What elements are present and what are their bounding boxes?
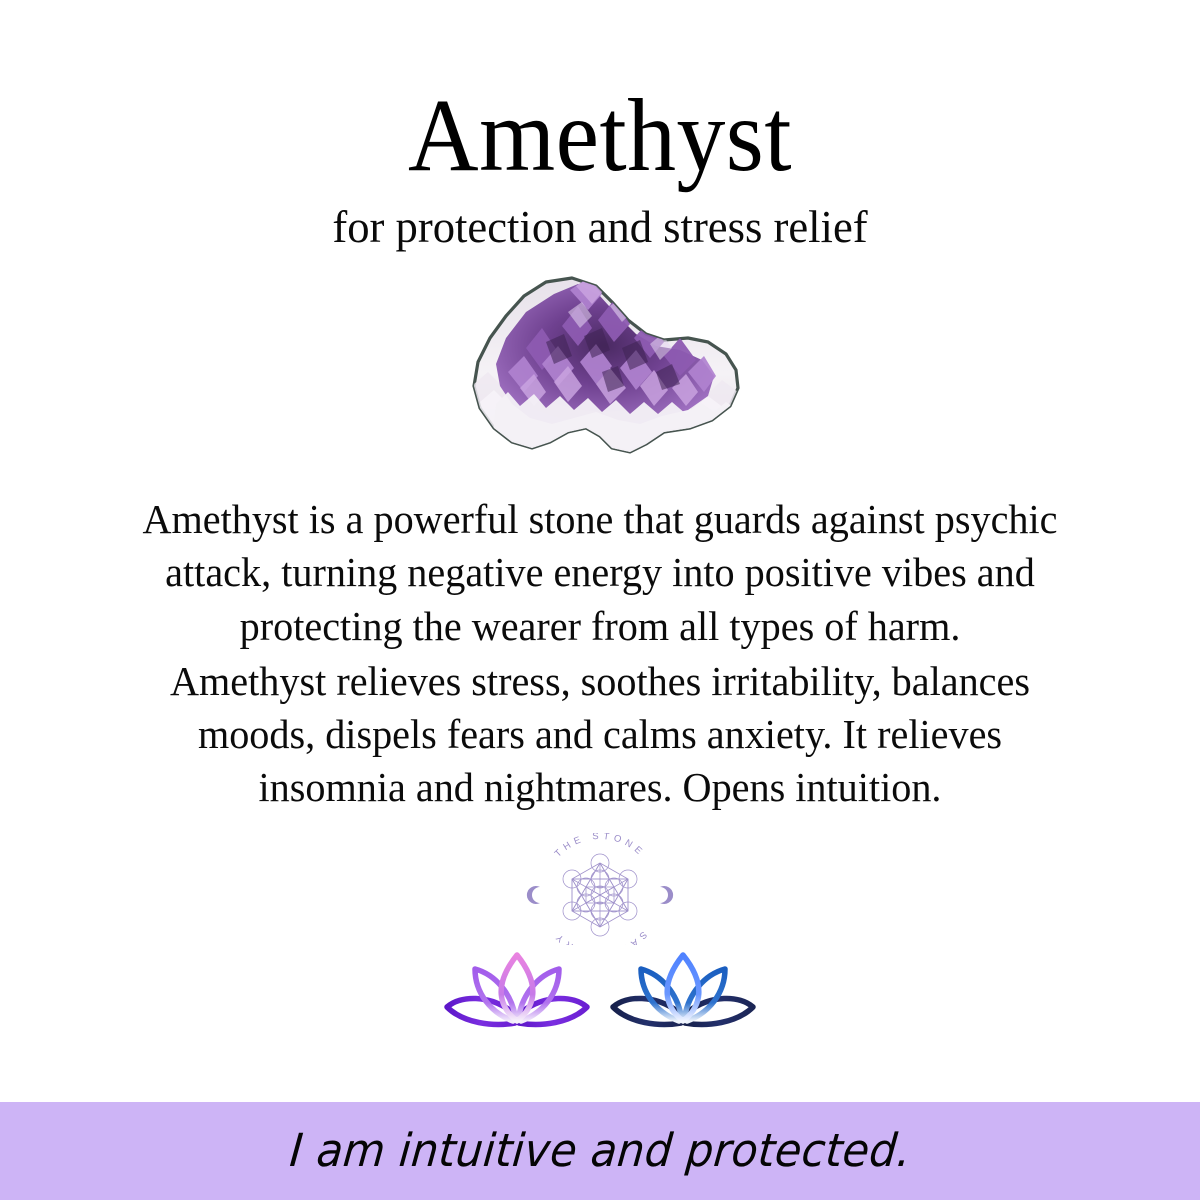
blue-lotus-icon	[603, 941, 763, 1037]
description-paragraph-1: Amethyst is a powerful stone that guards…	[130, 493, 1071, 653]
affirmation-banner: I am intuitive and protected.	[0, 1102, 1200, 1200]
amethyst-crystal-image	[450, 276, 750, 471]
description-paragraph-2: Amethyst relieves stress, soothes irrita…	[130, 655, 1071, 815]
logo-top-arc-text: THE STONE	[553, 833, 648, 860]
purple-lotus-icon	[437, 941, 597, 1037]
brand-logo: THE STONE SANCTUARY	[520, 833, 680, 945]
affirmation-text: I am intuitive and protected.	[287, 1125, 912, 1178]
description-block: Amethyst is a powerful stone that guards…	[130, 493, 1071, 815]
amethyst-info-card: Amethyst for protection and stress relie…	[0, 0, 1200, 1200]
metatrons-cube-icon	[563, 854, 637, 936]
logo-bottom-arc-text: SANCTUARY	[551, 929, 649, 945]
page-subtitle: for protection and stress relief	[18, 204, 1182, 250]
lotus-pair	[435, 941, 765, 1037]
header: Amethyst for protection and stress relie…	[0, 0, 1200, 250]
page-title: Amethyst	[36, 84, 1164, 188]
